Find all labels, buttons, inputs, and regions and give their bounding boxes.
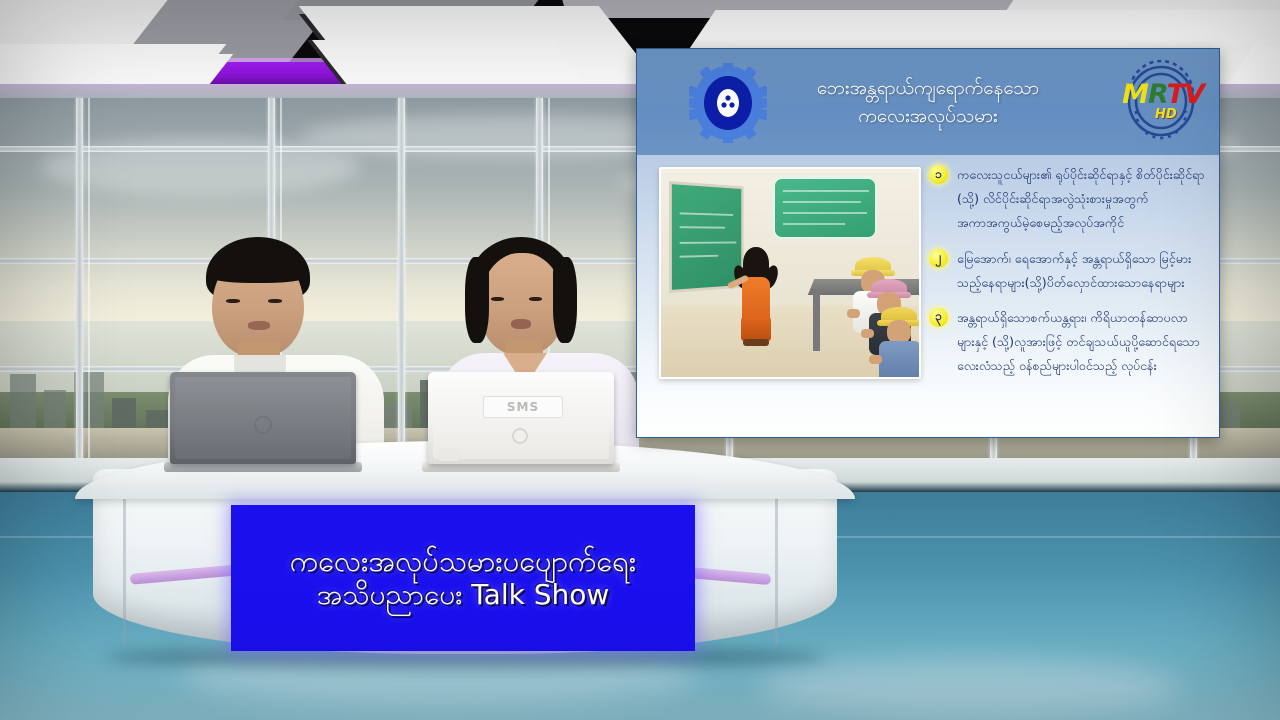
chalk-line (679, 226, 725, 229)
window-mullion (398, 98, 405, 458)
lower-third-line-2: အသိပညာပေး Talk Show (317, 579, 610, 611)
mrtv-letter-v: V (1184, 79, 1204, 110)
sms-sticker: SMS (483, 396, 563, 418)
mrtv-letter-r: R (1148, 79, 1167, 110)
text-line (783, 201, 861, 203)
eye (268, 299, 282, 303)
hand (847, 309, 860, 318)
text-line (783, 190, 869, 192)
mouth (248, 321, 270, 330)
worker-figure (877, 307, 921, 379)
laptop-lid-inner (433, 377, 609, 459)
eye (491, 297, 504, 301)
ilo-gear-svg (689, 63, 767, 143)
bullet-item: ၁ ကလေးသူငယ်များ၏ ရုပ်ပိုင်းဆိုင်ရာနှင့် … (929, 163, 1205, 236)
slide-header: ဘေးအန္တရာယ်ကျရောက်နေသော ကလေးအလုပ်သမား MR… (637, 49, 1219, 155)
text-line (783, 212, 867, 214)
slide-title-line-1: ဘေးအန္တရာယ်ကျရောက်နေသော (817, 77, 1039, 99)
chalk-line (679, 255, 718, 258)
illustration-desk-leg (813, 293, 820, 351)
desk-edge (775, 483, 778, 645)
laptop-lid: SMS (428, 372, 614, 464)
ceiling-panel (0, 54, 233, 88)
child-shoe (743, 339, 769, 346)
lower-third-banner: ကလေးအလုပ်သမားပပျောက်ရေး အသိပညာပေး Talk S… (231, 505, 695, 651)
slide-body: ၁ ကလေးသူငယ်များ၏ ရုပ်ပိုင်းဆိုင်ရာနှင့် … (637, 155, 1219, 438)
broadcast-frame: ကလေးအလုပ်သမားပပျောက်ရေး အသိပညာပေး Talk S… (0, 0, 1280, 720)
hair-side (465, 257, 489, 343)
window-mullion (76, 98, 83, 458)
bullet-number-badge: ၁ (929, 165, 948, 184)
desk-edge (123, 483, 126, 645)
chalk-line (679, 242, 736, 244)
window-mullion (88, 98, 90, 458)
bullet-item: ၃ အန္တရာယ်ရှိသောစက်ယန္တရား၊ ကိရိယာတန်ဆာပ… (929, 306, 1205, 379)
hand (869, 355, 882, 364)
classroom-child-workers-illustration (659, 167, 921, 379)
laptop-logo-icon (254, 416, 272, 434)
eye (226, 299, 240, 303)
lower-third-line-1: ကလေးအလုပ်သမားပပျောက်ရေး (290, 545, 636, 579)
laptop-logo-icon (512, 428, 528, 444)
chalk-line (679, 212, 733, 216)
text-line (783, 223, 845, 225)
bullet-text: ကလေးသူငယ်များ၏ ရုပ်ပိုင်းဆိုင်ရာနှင့် စိ… (957, 163, 1205, 236)
ilo-gear-logo-icon (689, 63, 767, 143)
chalkboard (669, 181, 744, 293)
bullet-text: မြေအောက်၊ ရေအောက်နှင့် အန္တရာယ်ရှိသော မြ… (957, 247, 1205, 295)
laptop-trackpad (436, 448, 462, 461)
eye (529, 297, 542, 301)
bullet-number-badge: ၂ (929, 249, 948, 268)
presentation-slide[interactable]: ဘေးအန္တရာယ်ကျရောက်နေသော ကလေးအလုပ်သမား MR… (636, 48, 1220, 438)
green-text-panel (773, 177, 877, 239)
studio-desk: ကလေးအလုပ်သမားပပျောက်ရေး အသိပညာပေး Talk S… (75, 441, 855, 671)
hair-side (553, 257, 577, 343)
laptop-right: SMS (428, 372, 614, 472)
worker-shirt (879, 341, 921, 379)
ceiling-panel (312, 40, 588, 86)
child-skirt (741, 317, 771, 341)
hand (861, 329, 874, 338)
bullet-item: ၂ မြေအောက်၊ ရေအောက်နှင့် အန္တရာယ်ရှိသော … (929, 247, 1205, 295)
sms-sticker-label: SMS (507, 400, 539, 414)
laptop-lid (170, 372, 356, 464)
bullet-number-badge: ၃ (929, 308, 948, 327)
mouth (511, 319, 531, 329)
child-figure (739, 247, 773, 347)
laptop-left (170, 372, 356, 472)
mrtv-logo: MRTV HD (1115, 57, 1207, 143)
slide-title-line-2: ကလေးအလုပ်သမား (817, 102, 1039, 131)
mrtv-letter-m: M (1122, 79, 1148, 110)
bullet-text: အန္တရာယ်ရှိသောစက်ယန္တရား၊ ကိရိယာတန်ဆာပလာ… (957, 306, 1205, 379)
slide-bullet-list: ၁ ကလေးသူငယ်များ၏ ရုပ်ပိုင်းဆိုင်ရာနှင့် … (921, 155, 1219, 438)
mrtv-hd-badge: HD (1155, 107, 1177, 122)
mrtv-letter-t: T (1167, 79, 1184, 110)
mrtv-wordmark: MRTV (1121, 79, 1205, 110)
slide-title: ဘေးအန္တရာယ်ကျရောက်နေသော ကလေးအလုပ်သမား (817, 74, 1039, 131)
